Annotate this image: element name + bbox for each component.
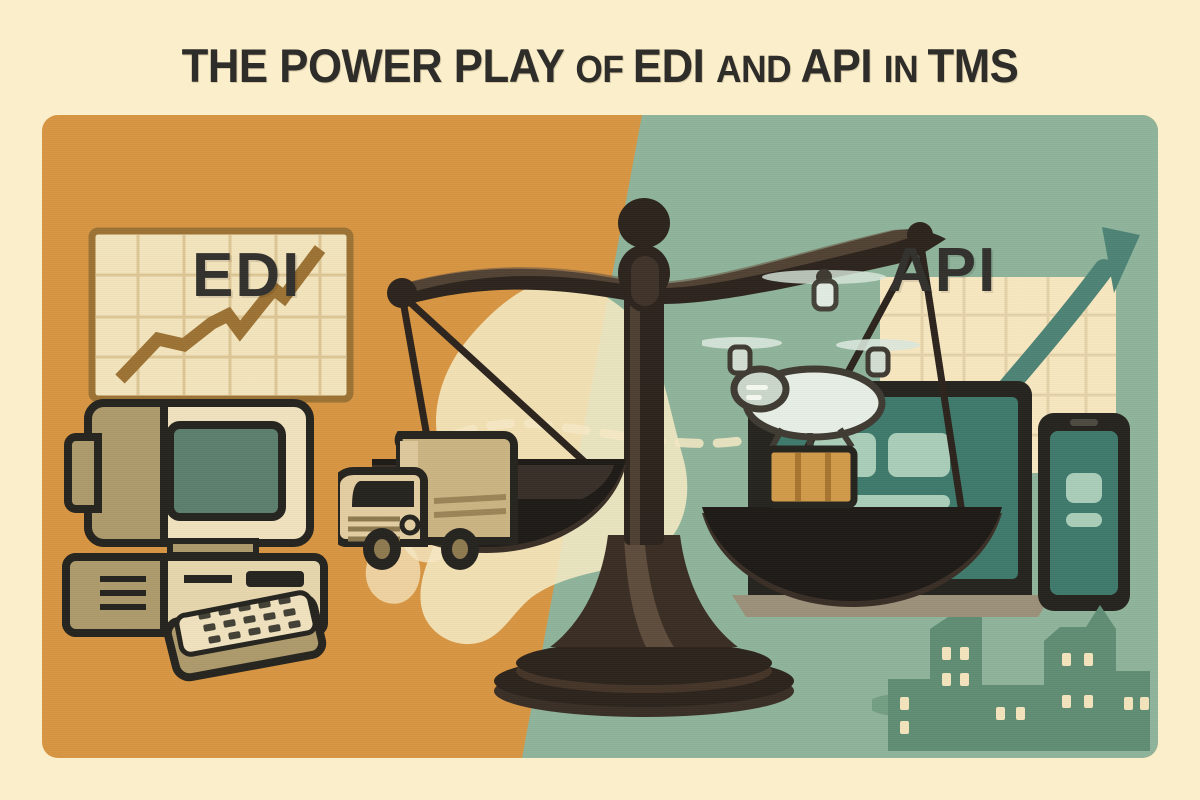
edi-side-label: EDI [192, 240, 301, 311]
drone-rotor-top [762, 269, 886, 309]
api-side-label: API [888, 235, 997, 306]
title-segment-tms: TMS [928, 39, 1019, 92]
illustration-panel: ☍ postnl DHL [42, 115, 1158, 758]
delivery-truck-icon [338, 415, 528, 590]
title-segment-1: THE POWER PLAY [182, 39, 576, 92]
title-segment-in: IN [884, 49, 928, 91]
infographic-canvas: THE POWER PLAY OF EDI AND API IN TMS [0, 0, 1200, 800]
title-segment-and: AND [716, 49, 801, 91]
title-segment-edi: EDI [633, 39, 716, 92]
title-segment-of: OF [575, 49, 633, 91]
drone-body [702, 337, 920, 451]
parcel-box-icon [768, 449, 854, 505]
page-title: THE POWER PLAY OF EDI AND API IN TMS [42, 38, 1158, 93]
title-segment-api: API [801, 39, 884, 92]
